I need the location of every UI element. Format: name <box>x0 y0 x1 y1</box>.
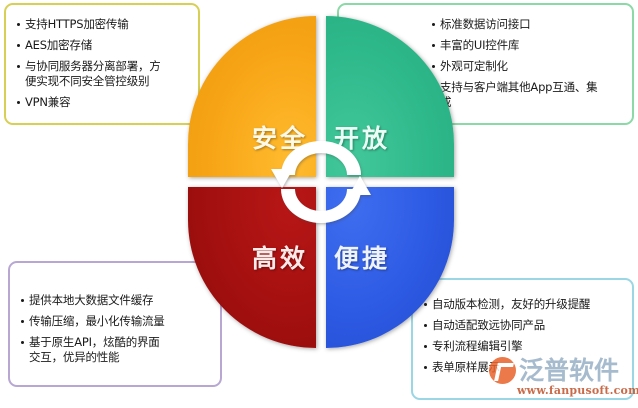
quadrant-security[interactable]: 安全 <box>188 16 316 177</box>
quadrant-efficient[interactable]: 高效 <box>188 187 316 348</box>
efficient-bullet-list: 提供本地大数据文件缓存 传输压缩，最小化传输流量 基于原生API，炫酷的界面 交… <box>20 293 212 365</box>
list-item: 支持HTTPS加密传输 <box>16 17 190 32</box>
list-item: AES加密存储 <box>16 38 190 53</box>
list-item: 支持与客户端其他App互通、集 成 <box>431 80 624 110</box>
list-item: 提供本地大数据文件缓存 <box>20 293 212 308</box>
list-item: VPN兼容 <box>16 95 190 110</box>
quadrant-label-convenient: 便捷 <box>334 239 390 275</box>
diagram-canvas: 支持HTTPS加密传输 AES加密存储 与协同服务器分离部署，方 便实现不同安全… <box>0 0 638 408</box>
quadrant-label-efficient: 高效 <box>252 239 308 275</box>
quadrant-open[interactable]: 开放 <box>326 16 454 177</box>
quadrant-convenient[interactable]: 便捷 <box>326 187 454 348</box>
open-bullet-list: 标准数据访问接口 丰富的UI控件库 外观可定制化 支持与客户端其他App互通、集… <box>431 17 624 110</box>
list-item: 外观可定制化 <box>431 59 624 74</box>
list-item: 与协同服务器分离部署，方 便实现不同安全管控级别 <box>16 59 190 89</box>
info-box-security: 支持HTTPS加密传输 AES加密存储 与协同服务器分离部署，方 便实现不同安全… <box>4 3 200 125</box>
security-bullet-list: 支持HTTPS加密传输 AES加密存储 与协同服务器分离部署，方 便实现不同安全… <box>16 17 190 110</box>
quadrant-label-security: 安全 <box>252 119 308 155</box>
four-quadrant-wheel: 安全 开放 高效 便捷 <box>188 16 454 348</box>
quadrant-label-open: 开放 <box>334 119 390 155</box>
list-item: 丰富的UI控件库 <box>431 38 624 53</box>
list-item: 基于原生API，炫酷的界面 交互，优异的性能 <box>20 335 212 365</box>
list-item: 表单原样展示 <box>423 360 624 375</box>
list-item: 传输压缩，最小化传输流量 <box>20 314 212 329</box>
list-item: 标准数据访问接口 <box>431 17 624 32</box>
open-bullet-wrapper: 标准数据访问接口 丰富的UI控件库 外观可定制化 支持与客户端其他App互通、集… <box>431 17 624 110</box>
